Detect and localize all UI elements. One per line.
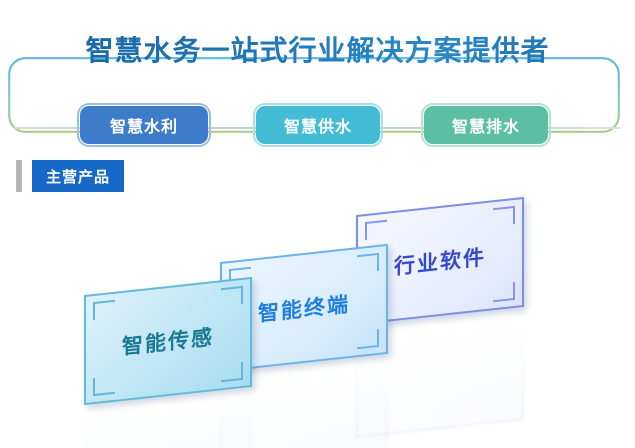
pill-smart-water-supply[interactable]: 智慧供水 (256, 106, 380, 144)
card-label: 行业软件 (394, 241, 486, 281)
pill-label: 智慧水利 (110, 113, 178, 137)
product-card-smart-sensing[interactable]: 智能传感 (84, 277, 252, 405)
section-label-box: 主营产品 (32, 160, 124, 192)
section-label-text: 主营产品 (46, 166, 110, 187)
product-card-group: 行业软件 智能终端 智能传感 (0, 190, 635, 448)
section-accent-bar (16, 160, 22, 192)
pill-label: 智慧排水 (452, 113, 520, 137)
card-label: 智能终端 (258, 288, 350, 328)
pill-smart-water-conservancy[interactable]: 智慧水利 (80, 106, 208, 144)
page-title: 智慧水务一站式行业解决方案提供者 (0, 31, 635, 71)
pill-group: 智慧水利 智慧供水 智慧排水 (0, 106, 635, 150)
pill-smart-drainage[interactable]: 智慧排水 (424, 106, 548, 144)
slide-canvas: 智慧水务一站式行业解决方案提供者 智慧水利 智慧供水 智慧排水 主营产品 行业 (0, 0, 635, 448)
section-heading-main-products: 主营产品 (16, 160, 124, 192)
card-face: 智能传感 (84, 277, 252, 405)
pill-label: 智慧供水 (284, 113, 352, 137)
card-label: 智能传感 (122, 321, 214, 361)
